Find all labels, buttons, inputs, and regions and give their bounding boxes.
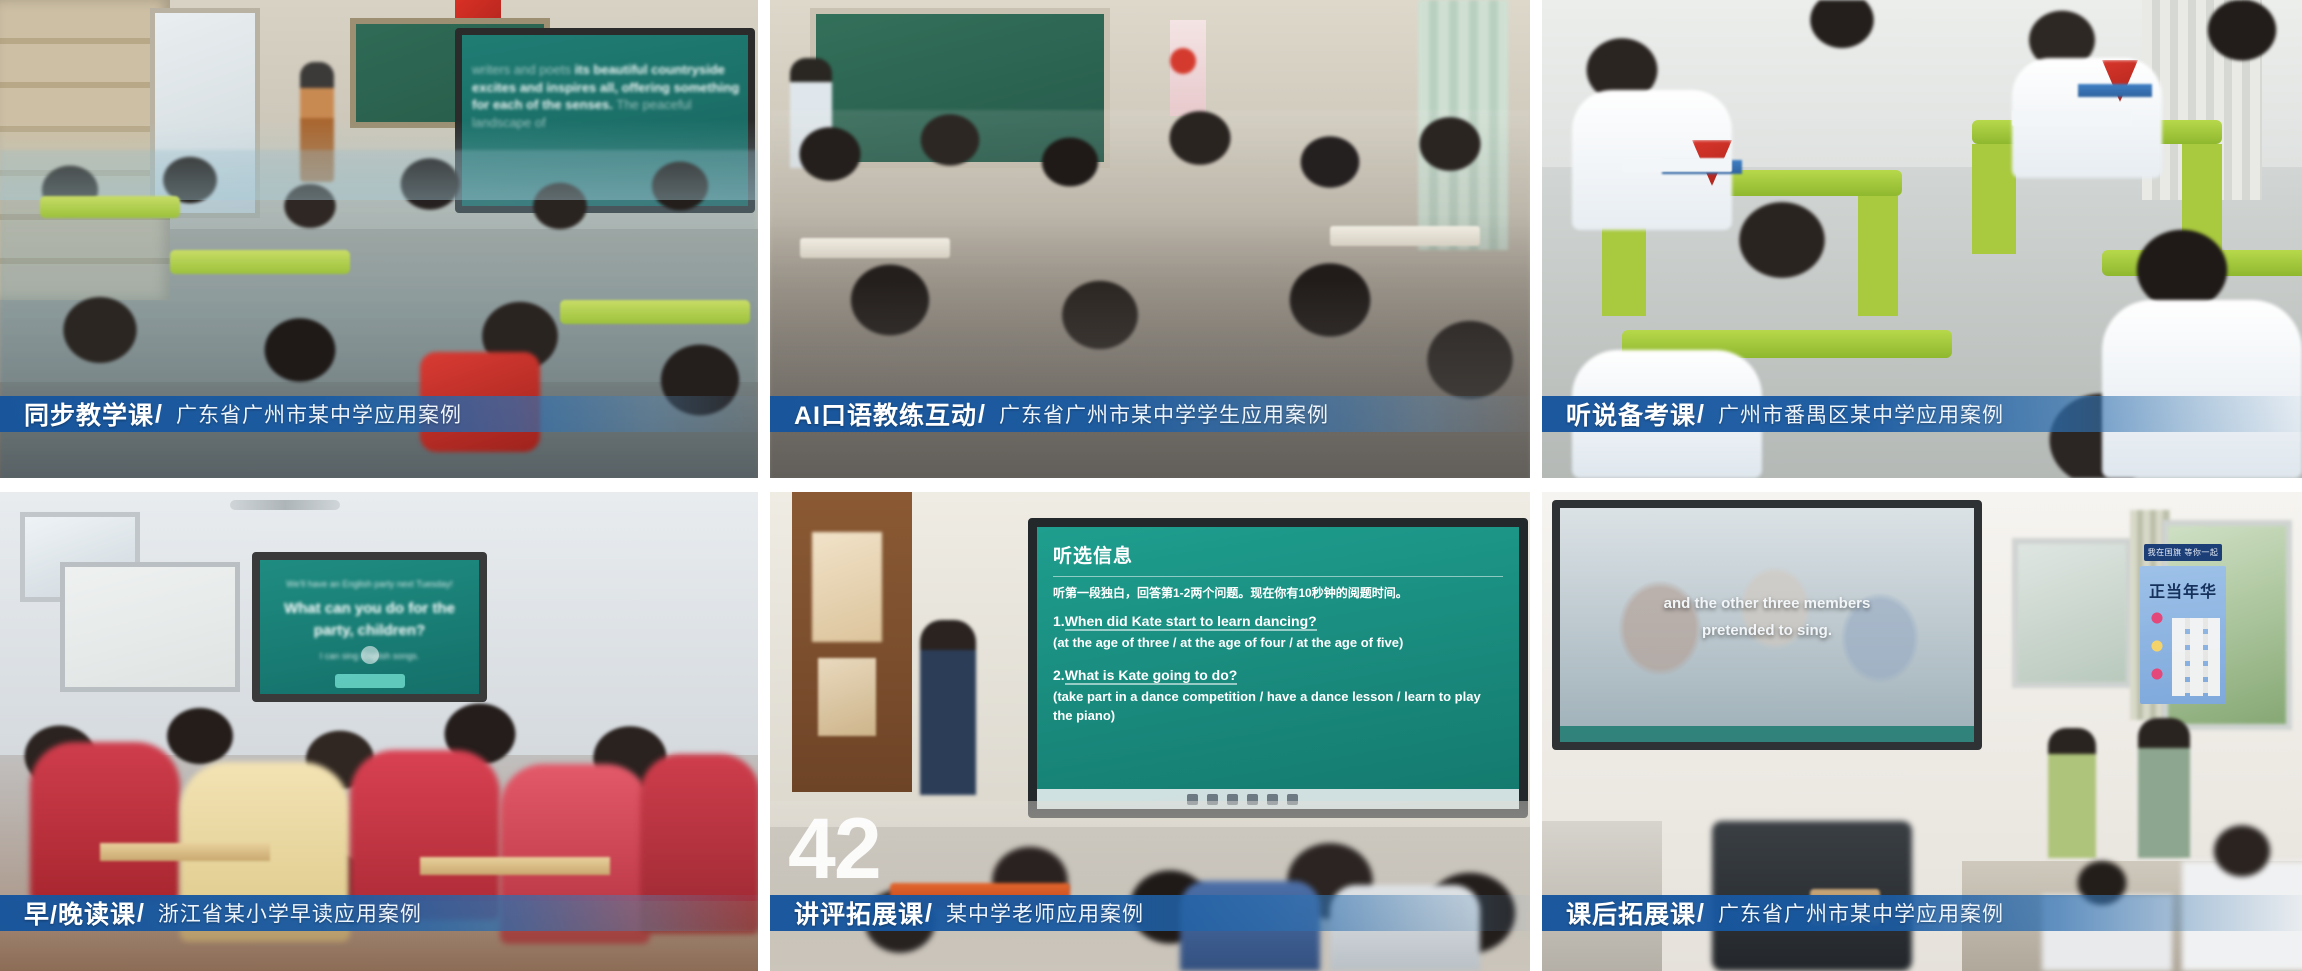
question-number-2: 2. xyxy=(1053,667,1065,683)
column-gap-2 xyxy=(1530,0,1542,478)
caption-title-6: 课后拓展课 xyxy=(1566,895,1696,931)
wall-poster-title: 正当年华 xyxy=(2140,578,2226,602)
panel-caption-4: 早/晚读课 / 浙江省某小学早读应用案例 xyxy=(0,895,758,931)
column-gap-1 xyxy=(758,0,770,478)
column-gap-4 xyxy=(1530,492,1542,971)
teacher-figure-5 xyxy=(920,620,976,795)
screen-subtitle-line2: pretended to sing. xyxy=(1560,617,1974,644)
caption-subtitle-6: 广东省广州市某中学应用案例 xyxy=(1718,898,2004,928)
wall-sign: 我在国旗 等你一起 xyxy=(2144,544,2222,561)
caption-title-1: 同步教学课 xyxy=(24,396,154,432)
wall-poster: 正当年华 xyxy=(2140,566,2226,704)
teacher-figure-6a xyxy=(2048,728,2096,858)
screen-text-lead-4: We'll have an English party next Tuesday… xyxy=(286,579,453,589)
frame-number-watermark: 42 xyxy=(788,814,880,885)
case-gallery: writers and poets its beautiful countrys… xyxy=(0,0,2302,971)
caption-separator-2: / xyxy=(978,400,985,429)
case-panel-commentary-extension[interactable]: 听选信息 听第一段独白，回答第1-2两个问题。现在你有10秒钟的阅题时间。 1.… xyxy=(770,492,1530,971)
caption-separator-4: / xyxy=(137,899,144,928)
question-options-2: (take part in a dance competition / have… xyxy=(1053,688,1503,726)
case-panel-morning-evening-reading[interactable]: We'll have an English party next Tuesday… xyxy=(0,492,758,971)
question-text-1: When did Kate start to learn dancing? xyxy=(1065,613,1317,631)
caption-separator-6: / xyxy=(1697,899,1704,928)
panel-caption-6: 课后拓展课 / 广东省广州市某中学应用案例 xyxy=(1542,895,2302,931)
screen-heading-5: 听选信息 xyxy=(1053,541,1503,568)
panel-caption-5: 讲评拓展课 / 某中学老师应用案例 xyxy=(770,895,1530,931)
caption-subtitle-5: 某中学老师应用案例 xyxy=(946,898,1144,928)
case-panel-after-class-extension[interactable]: 我在国旗 等你一起 正当年华 and the other three membe… xyxy=(1542,492,2302,971)
caption-title-2: AI口语教练互动 xyxy=(794,396,977,432)
panel-caption-3: 听说备考课 / 广州市番禺区某中学应用案例 xyxy=(1542,396,2302,432)
caption-separator-5: / xyxy=(925,899,932,928)
panel-caption-1: 同步教学课 / 广东省广州市某中学应用案例 xyxy=(0,396,758,432)
column-gap-3 xyxy=(758,492,770,971)
caption-separator-3: / xyxy=(1697,400,1704,429)
screen-instruction-5: 听第一段独白，回答第1-2两个问题。现在你有10秒钟的阅题时间。 xyxy=(1053,584,1503,601)
screen-text-lead-1: writers and poets xyxy=(472,62,571,77)
case-panel-synchronous-teaching[interactable]: writers and poets its beautiful countrys… xyxy=(0,0,758,478)
caption-subtitle-4: 浙江省某小学早读应用案例 xyxy=(158,898,422,928)
screen-text-main-4: What can you do for the party, children? xyxy=(268,598,471,643)
question-text-2: What is Kate going to do? xyxy=(1065,667,1238,685)
classroom-display-6: and the other three members pretended to… xyxy=(1552,500,1982,750)
case-panel-ai-speaking-coach[interactable]: AI口语教练互动 / 广东省广州市某中学学生应用案例 xyxy=(770,0,1530,478)
caption-title-4: 早/晚读课 xyxy=(24,895,136,931)
caption-subtitle-1: 广东省广州市某中学应用案例 xyxy=(176,399,462,429)
case-panel-listening-exam-prep[interactable]: 听说备考课 / 广州市番禺区某中学应用案例 xyxy=(1542,0,2302,478)
question-options-1: (at the age of three / at the age of fou… xyxy=(1053,634,1503,653)
caption-title-3: 听说备考课 xyxy=(1566,396,1696,432)
caption-subtitle-3: 广州市番禺区某中学应用案例 xyxy=(1718,399,2004,429)
caption-separator-1: / xyxy=(155,400,162,429)
classroom-display-4: We'll have an English party next Tuesday… xyxy=(252,552,487,702)
row-gap xyxy=(0,478,2302,492)
caption-subtitle-2: 广东省广州市某中学学生应用案例 xyxy=(999,399,1329,429)
classroom-display-5: 听选信息 听第一段独白，回答第1-2两个问题。现在你有10秒钟的阅题时间。 1.… xyxy=(1028,518,1528,818)
screen-subtitle-line1: and the other three members xyxy=(1560,590,1974,617)
panel-caption-2: AI口语教练互动 / 广东省广州市某中学学生应用案例 xyxy=(770,396,1530,432)
caption-title-5: 讲评拓展课 xyxy=(794,895,924,931)
question-number-1: 1. xyxy=(1053,613,1065,629)
